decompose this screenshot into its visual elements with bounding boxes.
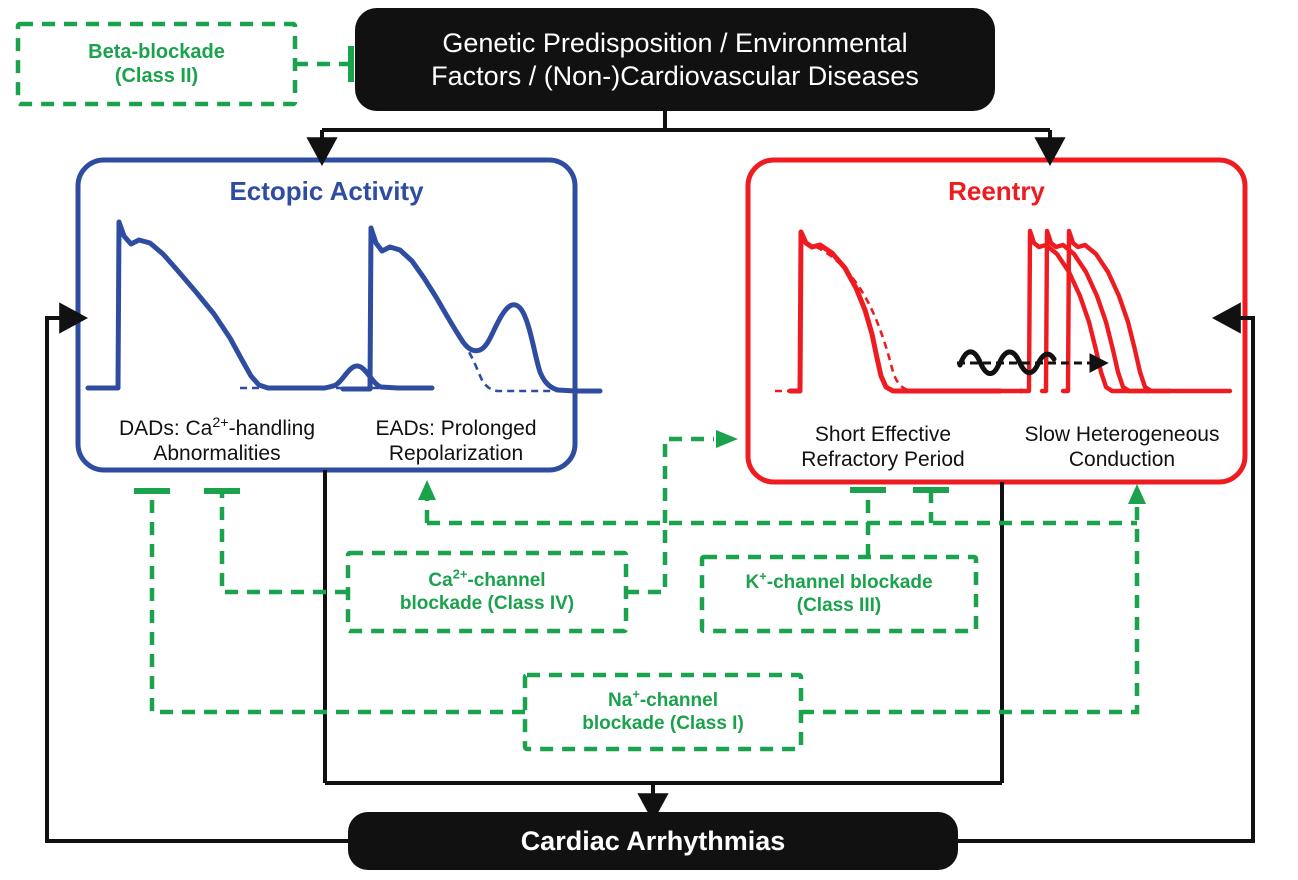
potassium-channel-blockade-box[interactable] (702, 557, 976, 631)
edge-calcium-inhibits-dads (222, 494, 348, 592)
calcium-channel-blockade-box[interactable] (348, 553, 626, 631)
arrowhead-calcium-serp (716, 430, 738, 448)
diagram-vector-layer (0, 0, 1298, 880)
upstream-node-box (355, 8, 995, 111)
outcome-node-box (348, 812, 958, 870)
beta-blockade-box[interactable] (18, 24, 295, 104)
arrowhead-sodium-conduction (1128, 484, 1146, 504)
edge-calcium-to-serp (665, 439, 714, 523)
arrowhead-calcium-eads (418, 480, 436, 500)
sodium-channel-blockade-box[interactable] (525, 675, 801, 749)
reentry-box (748, 160, 1245, 482)
edge-upstream-split (322, 111, 1050, 150)
figure-canvas: Genetic Predisposition / Environmental F… (0, 0, 1298, 880)
edge-beta-to-upstream (295, 46, 351, 82)
